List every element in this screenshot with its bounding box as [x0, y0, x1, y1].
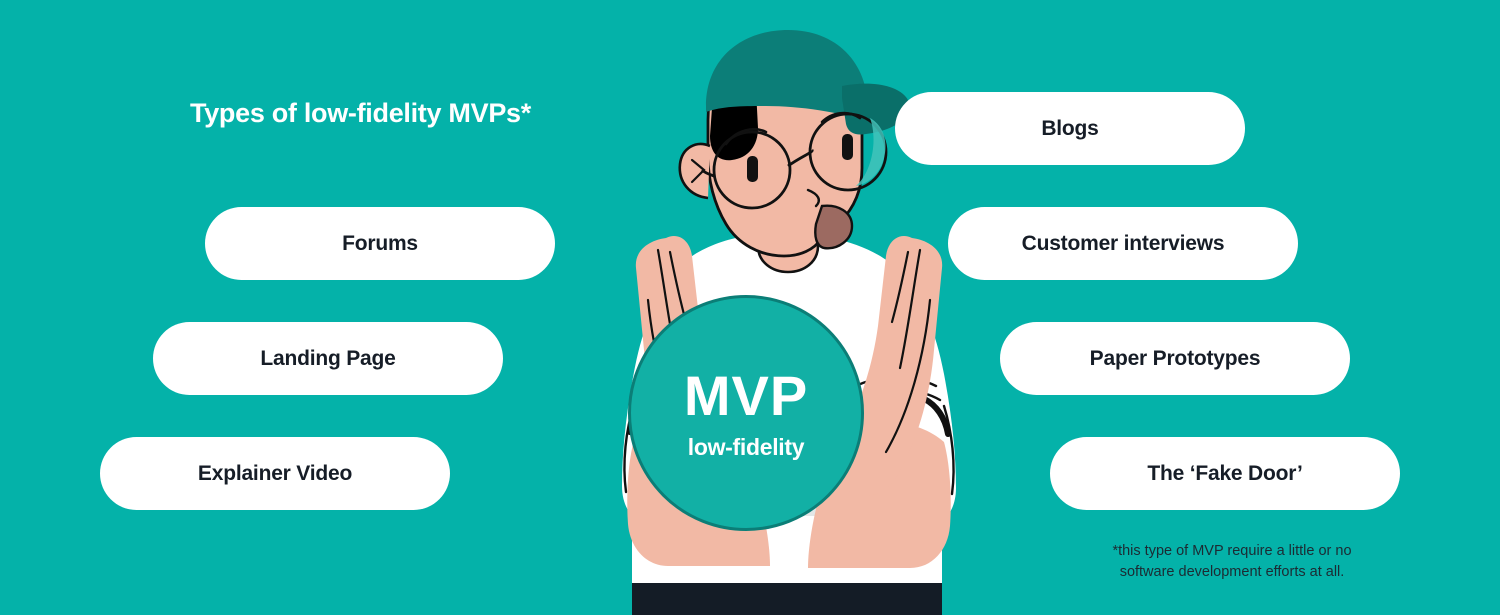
mvp-center-badge: MVP low-fidelity [628, 295, 864, 531]
mvp-type-pill-explainer-video[interactable]: Explainer Video [100, 437, 450, 510]
infographic-canvas: Types of low-fidelity MVPs* Forums Landi… [0, 0, 1500, 615]
footnote: *this type of MVP require a little or no… [1072, 541, 1392, 583]
mvp-type-pill-customer-interviews[interactable]: Customer interviews [948, 207, 1298, 280]
eye-left [747, 156, 758, 182]
mvp-type-pill-landing-page[interactable]: Landing Page [153, 322, 503, 395]
pill-label: Customer interviews [1022, 232, 1225, 256]
pill-label: Landing Page [260, 347, 395, 371]
pill-label: The ‘Fake Door’ [1147, 462, 1302, 486]
footnote-line-1: *this type of MVP require a little or no [1072, 541, 1392, 562]
mvp-type-pill-forums[interactable]: Forums [205, 207, 555, 280]
mvp-type-pill-paper-prototypes[interactable]: Paper Prototypes [1000, 322, 1350, 395]
pill-label: Forums [342, 232, 418, 256]
footnote-line-2: software development efforts at all. [1072, 562, 1392, 583]
mvp-type-pill-fake-door[interactable]: The ‘Fake Door’ [1050, 437, 1400, 510]
pill-label: Paper Prototypes [1090, 347, 1261, 371]
pill-label: Blogs [1041, 117, 1098, 141]
mvp-type-pill-blogs[interactable]: Blogs [895, 92, 1245, 165]
pill-label: Explainer Video [198, 462, 352, 486]
eye-right [842, 134, 853, 160]
mvp-badge-subtitle: low-fidelity [688, 436, 805, 459]
page-title: Types of low-fidelity MVPs* [190, 98, 531, 129]
mvp-badge-title: MVP [684, 368, 808, 424]
trousers-shape [632, 583, 942, 615]
